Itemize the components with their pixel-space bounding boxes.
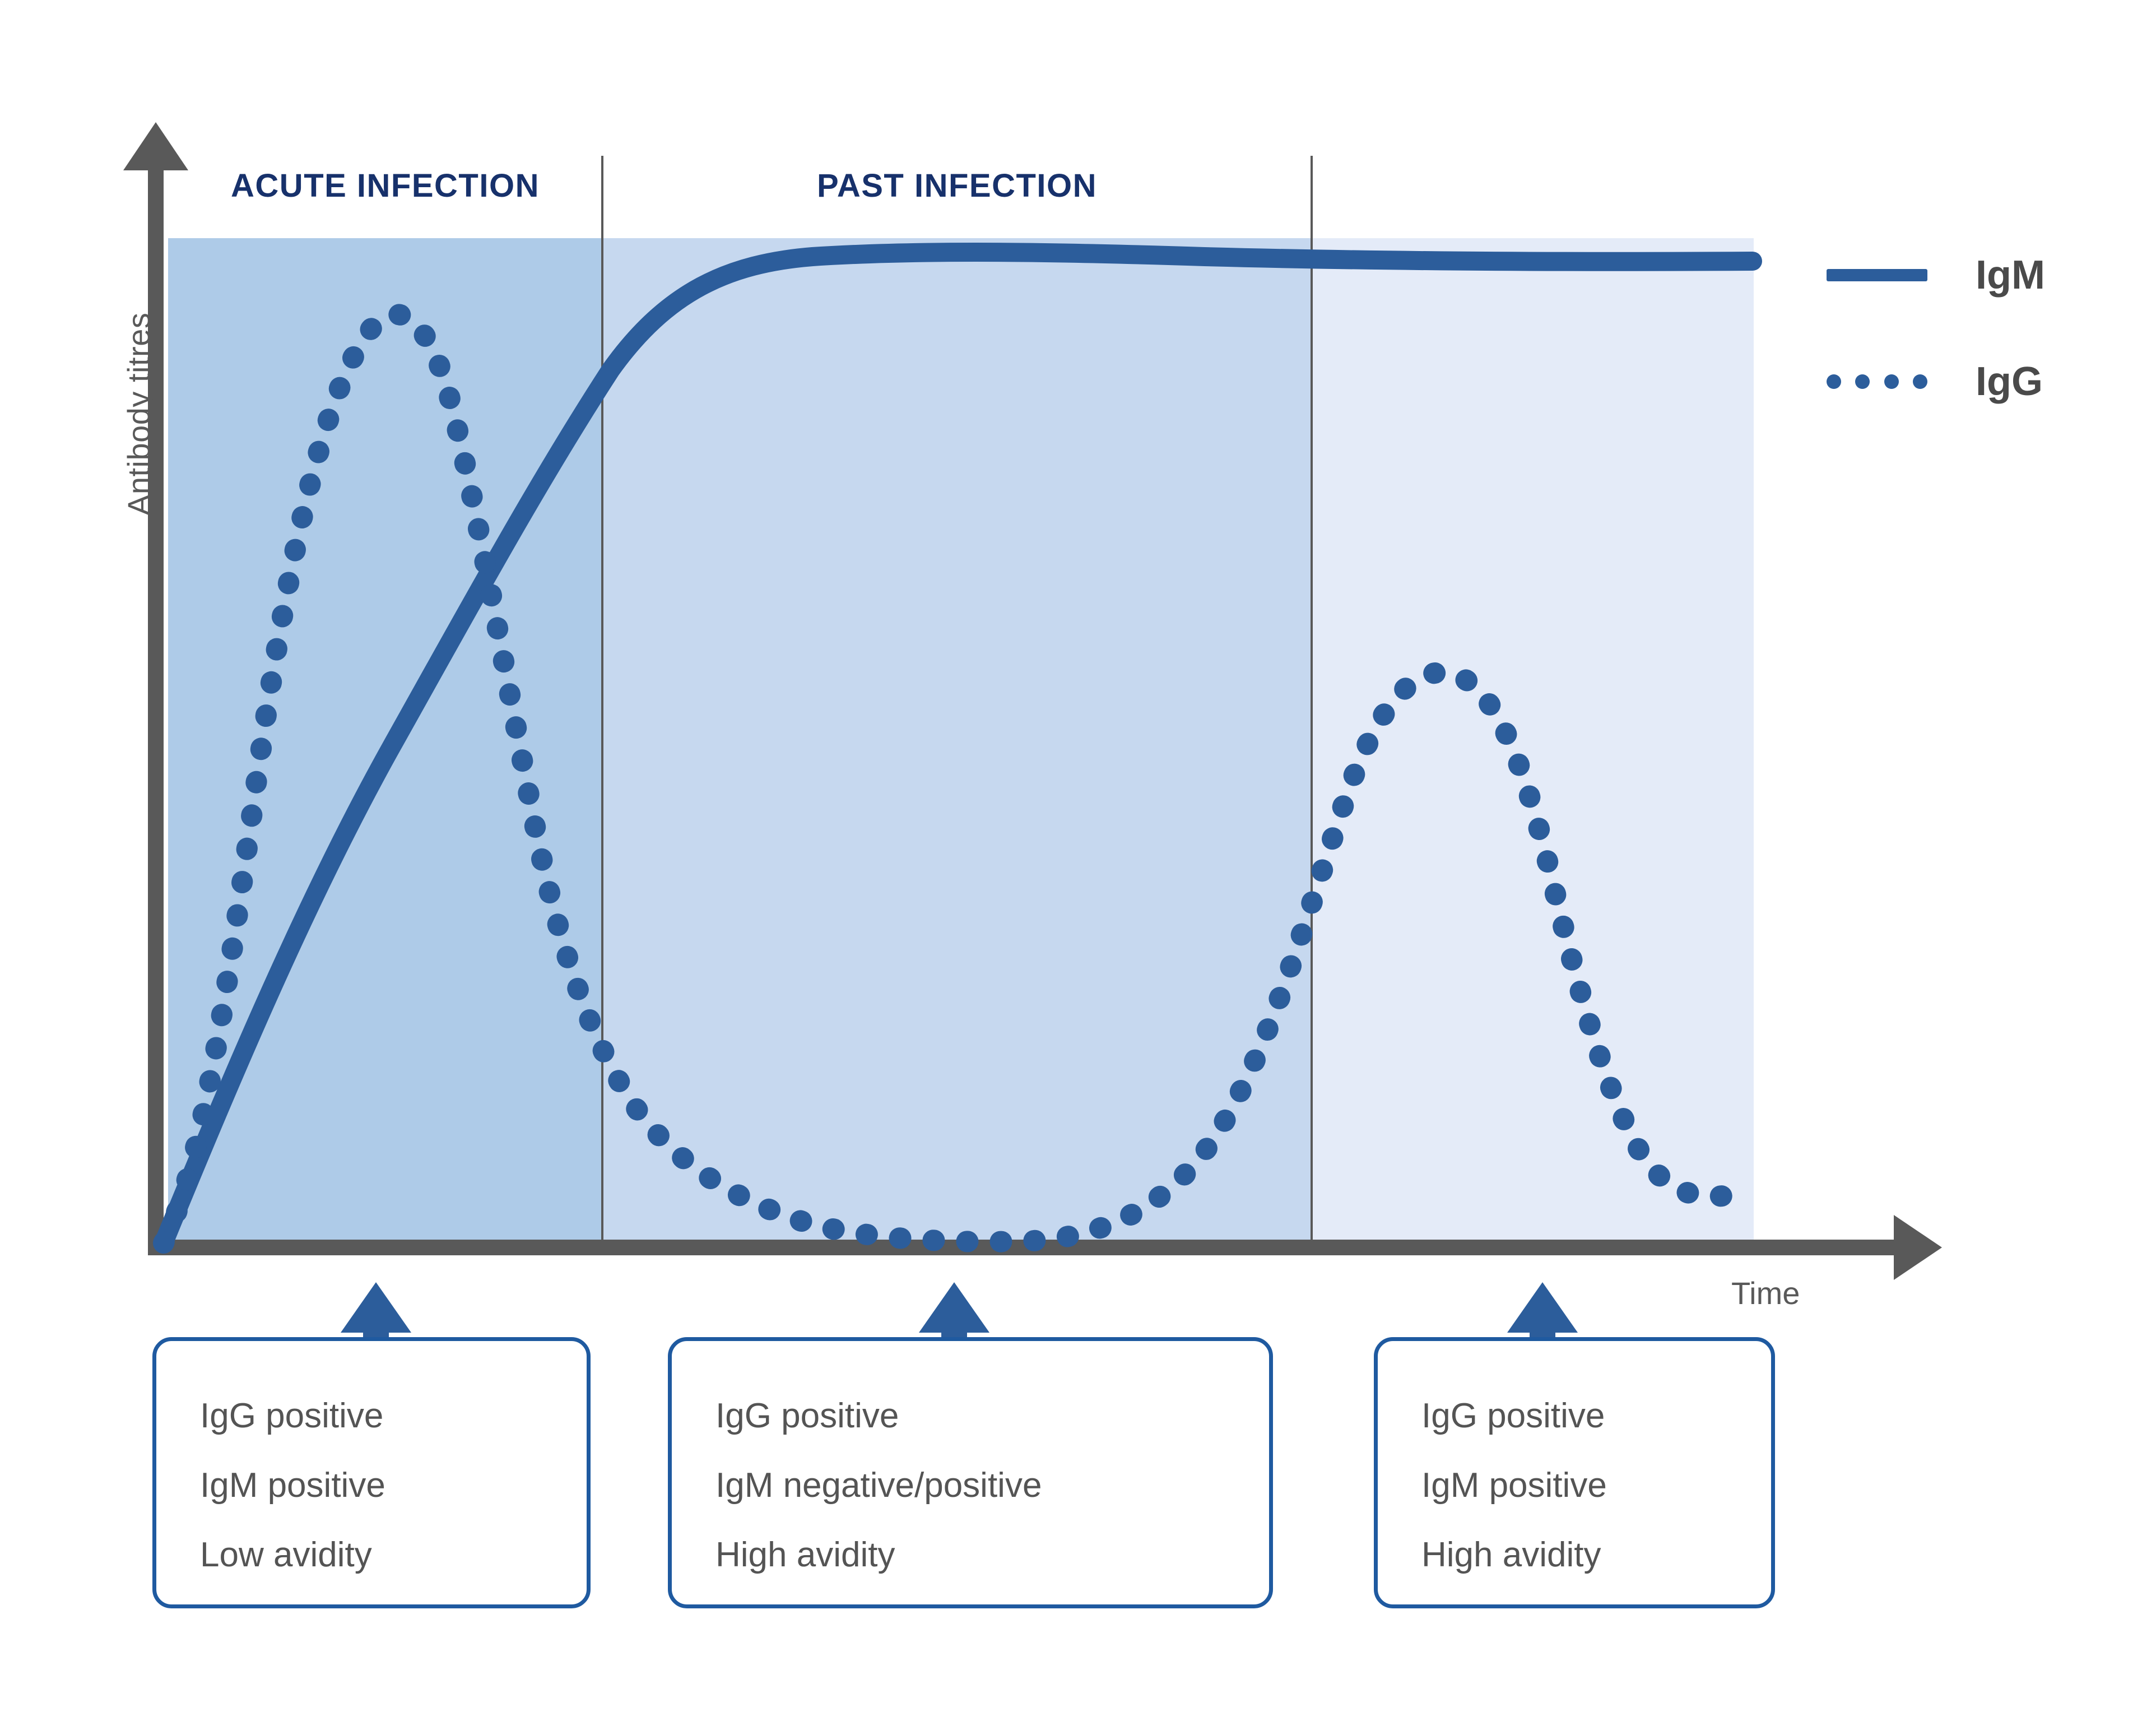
legend: IgM IgG	[1827, 224, 2118, 392]
callout-box-acute[interactable]: IgG positive IgM positive Low avidity	[152, 1337, 591, 1608]
callout-box-reinfection[interactable]: IgG positive IgM positive High avidity	[1374, 1337, 1775, 1608]
callout-line: Low avidity	[200, 1520, 385, 1590]
legend-entry-igg[interactable]: IgG	[1827, 359, 2043, 405]
callout-line: IgG positive	[715, 1381, 1042, 1451]
legend-label-igg: IgG	[1976, 359, 2043, 405]
legend-swatch-solid-line-icon	[1827, 269, 1927, 281]
callout-line: High avidity	[1421, 1520, 1607, 1590]
callout-text-acute: IgG positive IgM positive Low avidity	[200, 1381, 385, 1590]
callout-line: IgM positive	[1421, 1451, 1607, 1520]
arrow-up-icon	[1507, 1282, 1578, 1333]
arrow-up-icon	[919, 1282, 989, 1333]
igg-curve	[164, 314, 1753, 1243]
legend-swatch-dotted-line-icon	[1827, 374, 1927, 389]
legend-entry-igm[interactable]: IgM	[1827, 252, 2045, 298]
callout-text-reinfection: IgG positive IgM positive High avidity	[1421, 1381, 1607, 1590]
arrow-up-icon	[341, 1282, 411, 1333]
callout-line: IgG positive	[1421, 1381, 1607, 1451]
callout-box-past[interactable]: IgG positive IgM negative/positive High …	[668, 1337, 1273, 1608]
callout-line: IgM negative/positive	[715, 1451, 1042, 1520]
callout-line: IgG positive	[200, 1381, 385, 1451]
callout-line: IgM positive	[200, 1451, 385, 1520]
legend-label-igm: IgM	[1976, 252, 2045, 298]
antibody-kinetics-figure: ACUTE INFECTION PAST INFECTION Antibody …	[0, 0, 2156, 1721]
callout-text-past: IgG positive IgM negative/positive High …	[715, 1381, 1042, 1590]
callout-line: High avidity	[715, 1520, 1042, 1590]
igm-curve	[164, 252, 1753, 1243]
